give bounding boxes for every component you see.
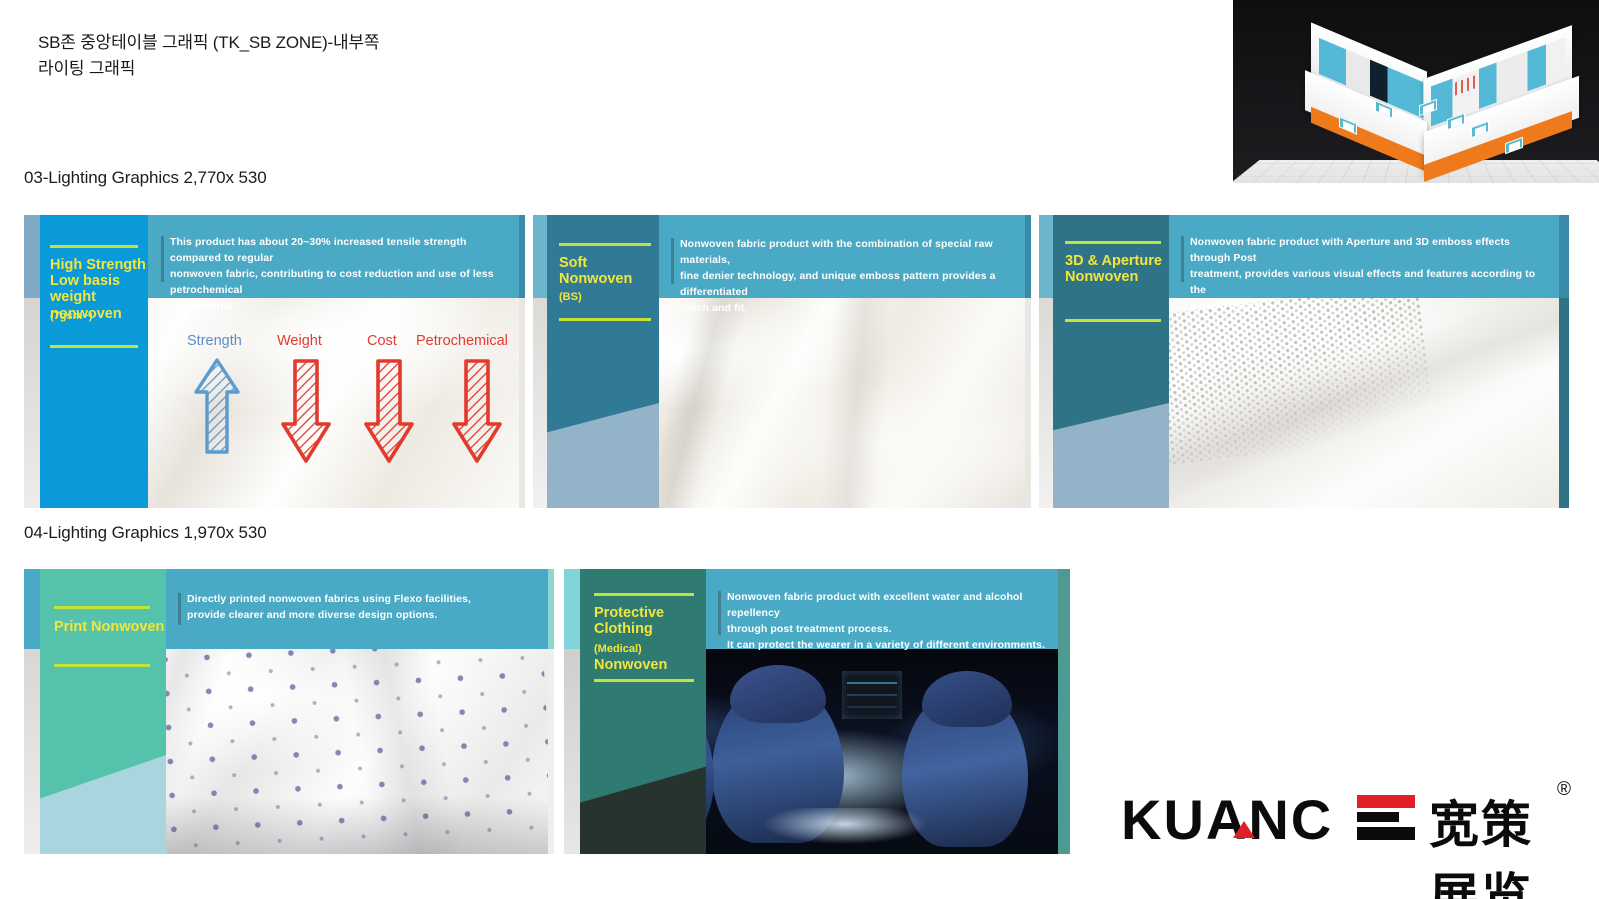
body-quote-bar (671, 238, 674, 284)
panel-body-text: This product has about 20~30% increased … (170, 234, 510, 314)
rule-top (594, 593, 694, 596)
page-title: SB존 중앙테이블 그래픽 (TK_SB ZONE)-내부쪽 라이팅 그래픽 (38, 30, 379, 82)
arrow-label-weight: Weight (277, 333, 322, 349)
panel-3d-aperture: 3D & Aperture Nonwoven Nonwoven fabric p… (1039, 215, 1569, 508)
panel-title: Protective Clothing (594, 605, 710, 637)
arrow-label-cost: Cost (367, 333, 397, 349)
rule-bottom (50, 345, 138, 348)
kuance-logo: KUANC 宽策展览 ® (1121, 781, 1581, 853)
rule-bottom (559, 318, 651, 321)
panel-separator (548, 569, 564, 854)
slide-page: SB존 중앙테이블 그래픽 (TK_SB ZONE)-내부쪽 라이팅 그래픽 0… (0, 0, 1599, 899)
panel-subtitle: (Medical) (594, 643, 642, 657)
surgeon-cap (922, 671, 1012, 727)
surgeon-cap (730, 665, 826, 723)
panel-left-edge (24, 569, 40, 854)
logo-wordmark: KUANC (1121, 787, 1333, 852)
rule-bottom (594, 679, 694, 682)
panel-title: Print Nonwoven (54, 619, 166, 635)
section-caption-03: 03-Lighting Graphics 2,770x 530 (24, 168, 267, 188)
panel-subtitle: (BS) (559, 291, 582, 305)
panel-left-edge (533, 215, 547, 508)
rule-top (50, 245, 138, 248)
panel-body-text: Nonwoven fabric product with the combina… (680, 236, 1022, 316)
panel-right-edge (1559, 215, 1569, 298)
panel-title: 3D & Aperture Nonwoven (1065, 253, 1173, 285)
panel-soft-nonwoven: Soft Nonwoven (BS) Nonwoven fabric produ… (533, 215, 1025, 508)
arrow-up-strength (194, 358, 240, 459)
panel-sidebar-high-strength: High Strength Low basis weight nonwoven … (40, 215, 148, 508)
rule-bottom (54, 664, 150, 667)
lighting-graphics-strip-04: Print Nonwoven Directly printed nonwoven… (24, 569, 1070, 854)
arrow-down-weight (280, 358, 332, 468)
panel-right-edge (1058, 569, 1070, 854)
logo-e-mid-bar (1357, 812, 1399, 822)
panel-body-text: Nonwoven fabric product with excellent w… (727, 589, 1067, 653)
booth-render-thumbnail (1233, 0, 1599, 183)
panel-body-text: Directly printed nonwoven fabrics using … (187, 591, 537, 623)
section-caption-04: 04-Lighting Graphics 1,970x 530 (24, 523, 267, 543)
registered-mark: ® (1557, 779, 1571, 801)
panel-title: Soft Nonwoven (559, 255, 663, 287)
arrow-down-petrochemical (451, 358, 503, 468)
panel-protective-clothing: Protective Clothing (Medical) Nonwoven N… (564, 569, 1070, 854)
body-quote-bar (1181, 236, 1184, 282)
rule-top (54, 606, 150, 609)
body-quote-bar (178, 593, 181, 625)
panel-subtitle: (7gsm~) (50, 310, 93, 324)
arrow-label-strength: Strength (187, 333, 242, 349)
logo-e-mark (1357, 795, 1415, 839)
panel-left-edge (24, 215, 40, 508)
panel-print-nonwoven: Print Nonwoven Directly printed nonwoven… (24, 569, 548, 854)
vital-monitor (842, 671, 902, 719)
panel-left-edge (1039, 215, 1053, 508)
panel-left-edge (564, 569, 580, 854)
logo-chinese-name: 宽策展览 (1429, 785, 1581, 899)
arrow-down-cost (363, 358, 415, 468)
arrow-label-petrochemical: Petrochemical (416, 333, 508, 349)
rule-top (1065, 241, 1161, 244)
panel-separator (1025, 215, 1039, 508)
lighting-graphics-strip-03: High Strength Low basis weight nonwoven … (24, 215, 1569, 508)
body-quote-bar (161, 236, 164, 282)
panel-separator (519, 215, 533, 508)
logo-e-top-bar (1357, 795, 1415, 808)
logo-a-triangle (1233, 821, 1255, 838)
panel-high-strength: High Strength Low basis weight nonwoven … (24, 215, 519, 508)
panel-right-edge-lower (1559, 298, 1569, 508)
body-quote-bar (718, 591, 721, 635)
surgical-light-glow (750, 808, 940, 848)
rule-top (559, 243, 651, 246)
panel-title-second: Nonwoven (594, 657, 710, 673)
rule-bottom (1065, 319, 1161, 322)
logo-e-bottom-bar (1357, 827, 1415, 840)
panel-body-text: Nonwoven fabric product with Aperture an… (1190, 234, 1542, 314)
